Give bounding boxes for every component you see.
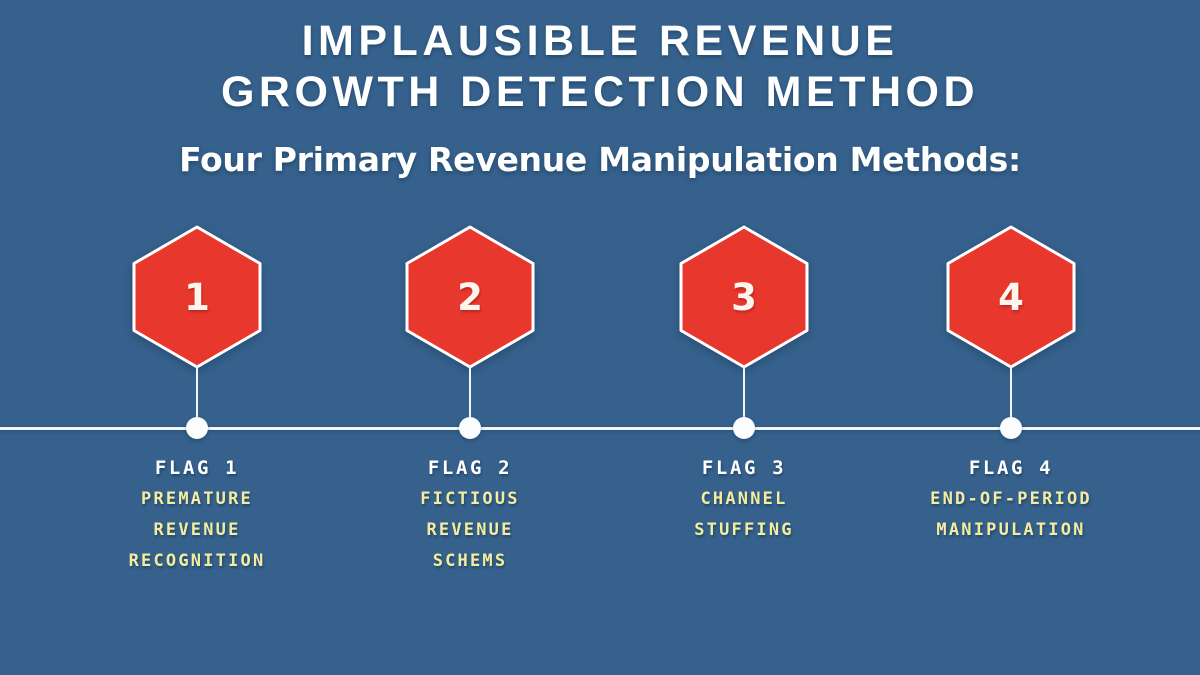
timeline-item-4[interactable]: 4FLAG 4END-OF-PERIODMANIPULATION [881, 0, 1141, 675]
timeline-item-1[interactable]: 1FLAG 1PREMATUREREVENUERECOGNITION [67, 0, 327, 675]
flag-description-line: REVENUE [340, 515, 600, 546]
caption-1: FLAG 1PREMATUREREVENUERECOGNITION [67, 456, 327, 577]
flag-description-3: CHANNELSTUFFING [614, 484, 874, 546]
hexagon-badge-3[interactable]: 3 [678, 224, 810, 370]
timeline-node-1[interactable] [186, 417, 208, 439]
hexagon-icon [131, 224, 263, 370]
flag-description-4: END-OF-PERIODMANIPULATION [881, 484, 1141, 546]
flag-title-2: FLAG 2 [340, 456, 600, 481]
hexagon-badge-1[interactable]: 1 [131, 224, 263, 370]
flag-description-line: REVENUE [67, 515, 327, 546]
timeline-node-3[interactable] [733, 417, 755, 439]
hexagon-icon [404, 224, 536, 370]
flag-description-line: PREMATURE [67, 484, 327, 515]
hexagon-badge-2[interactable]: 2 [404, 224, 536, 370]
flag-description-line: RECOGNITION [67, 546, 327, 577]
timeline-item-2[interactable]: 2FLAG 2FICTIOUSREVENUESCHEMS [340, 0, 600, 675]
flag-title-4: FLAG 4 [881, 456, 1141, 481]
connector-stem-1 [196, 366, 198, 424]
flag-description-line: MANIPULATION [881, 515, 1141, 546]
timeline-item-3[interactable]: 3FLAG 3CHANNELSTUFFING [614, 0, 874, 675]
flag-title-3: FLAG 3 [614, 456, 874, 481]
flag-description-line: SCHEMS [340, 546, 600, 577]
caption-2: FLAG 2FICTIOUSREVENUESCHEMS [340, 456, 600, 577]
hexagon-icon [678, 224, 810, 370]
caption-4: FLAG 4END-OF-PERIODMANIPULATION [881, 456, 1141, 546]
flag-description-line: CHANNEL [614, 484, 874, 515]
flag-description-line: STUFFING [614, 515, 874, 546]
timeline-node-2[interactable] [459, 417, 481, 439]
connector-stem-2 [469, 366, 471, 424]
infographic-canvas: IMPLAUSIBLE REVENUE GROWTH DETECTION MET… [0, 0, 1200, 675]
caption-3: FLAG 3CHANNELSTUFFING [614, 456, 874, 546]
flag-description-2: FICTIOUSREVENUESCHEMS [340, 484, 600, 577]
timeline-node-4[interactable] [1000, 417, 1022, 439]
flag-description-line: FICTIOUS [340, 484, 600, 515]
flag-description-line: END-OF-PERIOD [881, 484, 1141, 515]
connector-stem-3 [743, 366, 745, 424]
hexagon-icon [945, 224, 1077, 370]
flag-description-1: PREMATUREREVENUERECOGNITION [67, 484, 327, 577]
flag-title-1: FLAG 1 [67, 456, 327, 481]
hexagon-badge-4[interactable]: 4 [945, 224, 1077, 370]
connector-stem-4 [1010, 366, 1012, 424]
